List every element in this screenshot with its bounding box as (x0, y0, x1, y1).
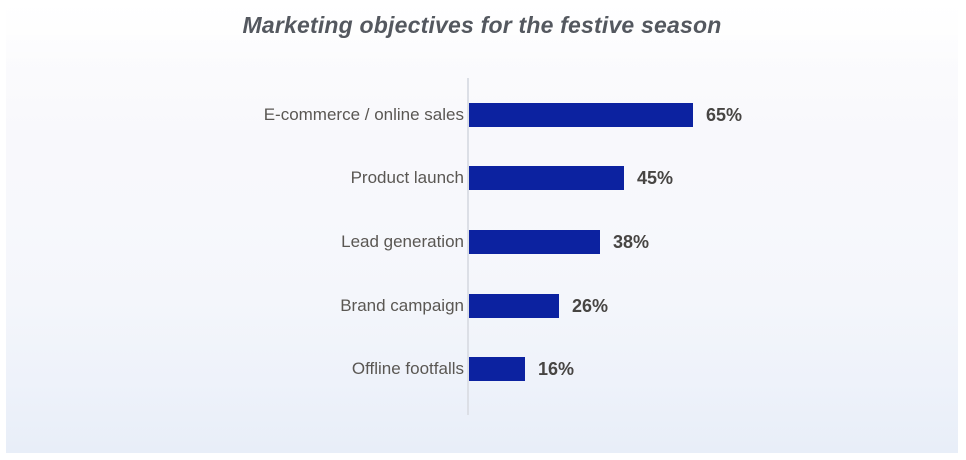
bar-value-label: 45% (637, 166, 673, 190)
bar (469, 230, 600, 254)
bar-row: Lead generation 38% (6, 230, 958, 254)
bar (469, 294, 559, 318)
category-label: Lead generation (341, 230, 464, 254)
bar-row: Offline footfalls 16% (6, 357, 958, 381)
bar-value-label: 38% (613, 230, 649, 254)
plot-area: E-commerce / online sales 65% Product la… (6, 0, 958, 453)
bar-row: Product launch 45% (6, 166, 958, 190)
bar-value-label: 16% (538, 357, 574, 381)
bar-row: E-commerce / online sales 65% (6, 103, 958, 127)
category-label: Offline footfalls (352, 357, 464, 381)
bar (469, 357, 525, 381)
bar (469, 103, 693, 127)
category-label: Brand campaign (340, 294, 464, 318)
category-label: Product launch (351, 166, 464, 190)
bar-value-label: 26% (572, 294, 608, 318)
bar-value-label: 65% (706, 103, 742, 127)
bar (469, 166, 624, 190)
chart-figure: Marketing objectives for the festive sea… (0, 0, 966, 460)
bar-row: Brand campaign 26% (6, 294, 958, 318)
category-label: E-commerce / online sales (264, 103, 464, 127)
